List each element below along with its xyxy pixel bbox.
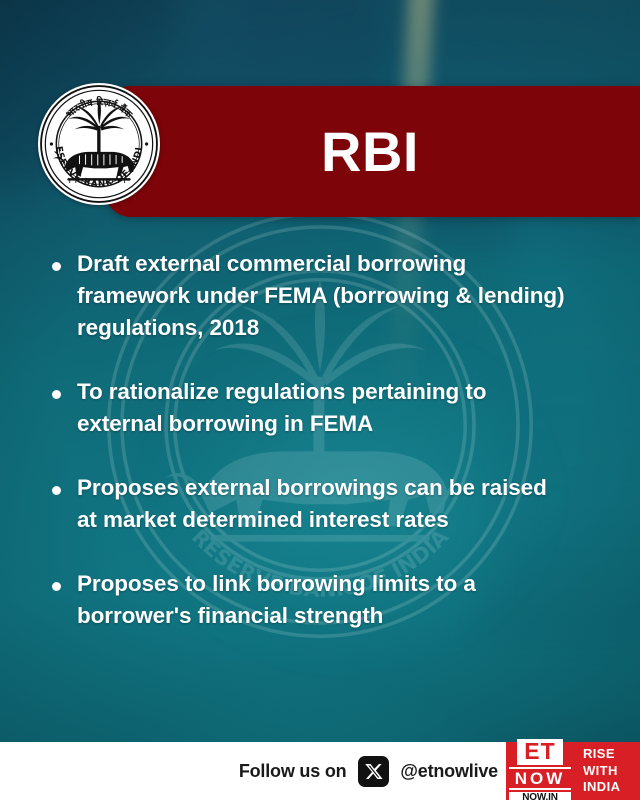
etnow-logo-mark: ET NOW NOW.IN: [506, 742, 574, 800]
footer-content: Follow us on @etnowlive ET NOW NOW.IN RI…: [239, 742, 640, 800]
etnow-logo-domain: NOW.IN: [509, 792, 571, 800]
etnow-logo-et: ET: [517, 739, 562, 765]
list-item: Proposes external borrowings can be rais…: [52, 472, 572, 536]
list-item: Draft external commercial borrowing fram…: [52, 248, 572, 344]
rbi-emblem-icon: भारतीय रिज़र्व बैंक RESERVE BANK OF INDI…: [38, 83, 160, 205]
tagline-line-2: WITH: [583, 763, 640, 780]
etnow-logo[interactable]: ET NOW NOW.IN RISE WITH INDIA: [506, 742, 640, 800]
news-card: RESERVE BANK OF INDIA RBI भारतीय रिज़र्व…: [0, 0, 640, 800]
list-item-text: Proposes external borrowings can be rais…: [77, 472, 572, 536]
list-item-text: Draft external commercial borrowing fram…: [77, 248, 572, 344]
list-item: To rationalize regulations pertaining to…: [52, 376, 572, 440]
bullet-dot-icon: [52, 390, 61, 399]
list-item-text: Proposes to link borrowing limits to a b…: [77, 568, 572, 632]
footer-bar: Follow us on @etnowlive ET NOW NOW.IN RI…: [0, 742, 640, 800]
bullet-dot-icon: [52, 582, 61, 591]
tagline-line-3: INDIA: [583, 779, 640, 796]
x-twitter-icon[interactable]: [358, 756, 389, 787]
bullet-dot-icon: [52, 262, 61, 271]
social-handle[interactable]: @etnowlive: [400, 761, 498, 782]
bullet-list: Draft external commercial borrowing fram…: [52, 248, 572, 663]
list-item-text: To rationalize regulations pertaining to…: [77, 376, 572, 440]
list-item: Proposes to link borrowing limits to a b…: [52, 568, 572, 632]
bullet-dot-icon: [52, 486, 61, 495]
page-title: RBI: [160, 86, 580, 217]
tagline-line-1: RISE: [583, 746, 640, 763]
follow-us-label: Follow us on: [239, 761, 347, 782]
etnow-logo-now: NOW: [509, 767, 571, 790]
etnow-tagline: RISE WITH INDIA: [574, 742, 640, 800]
